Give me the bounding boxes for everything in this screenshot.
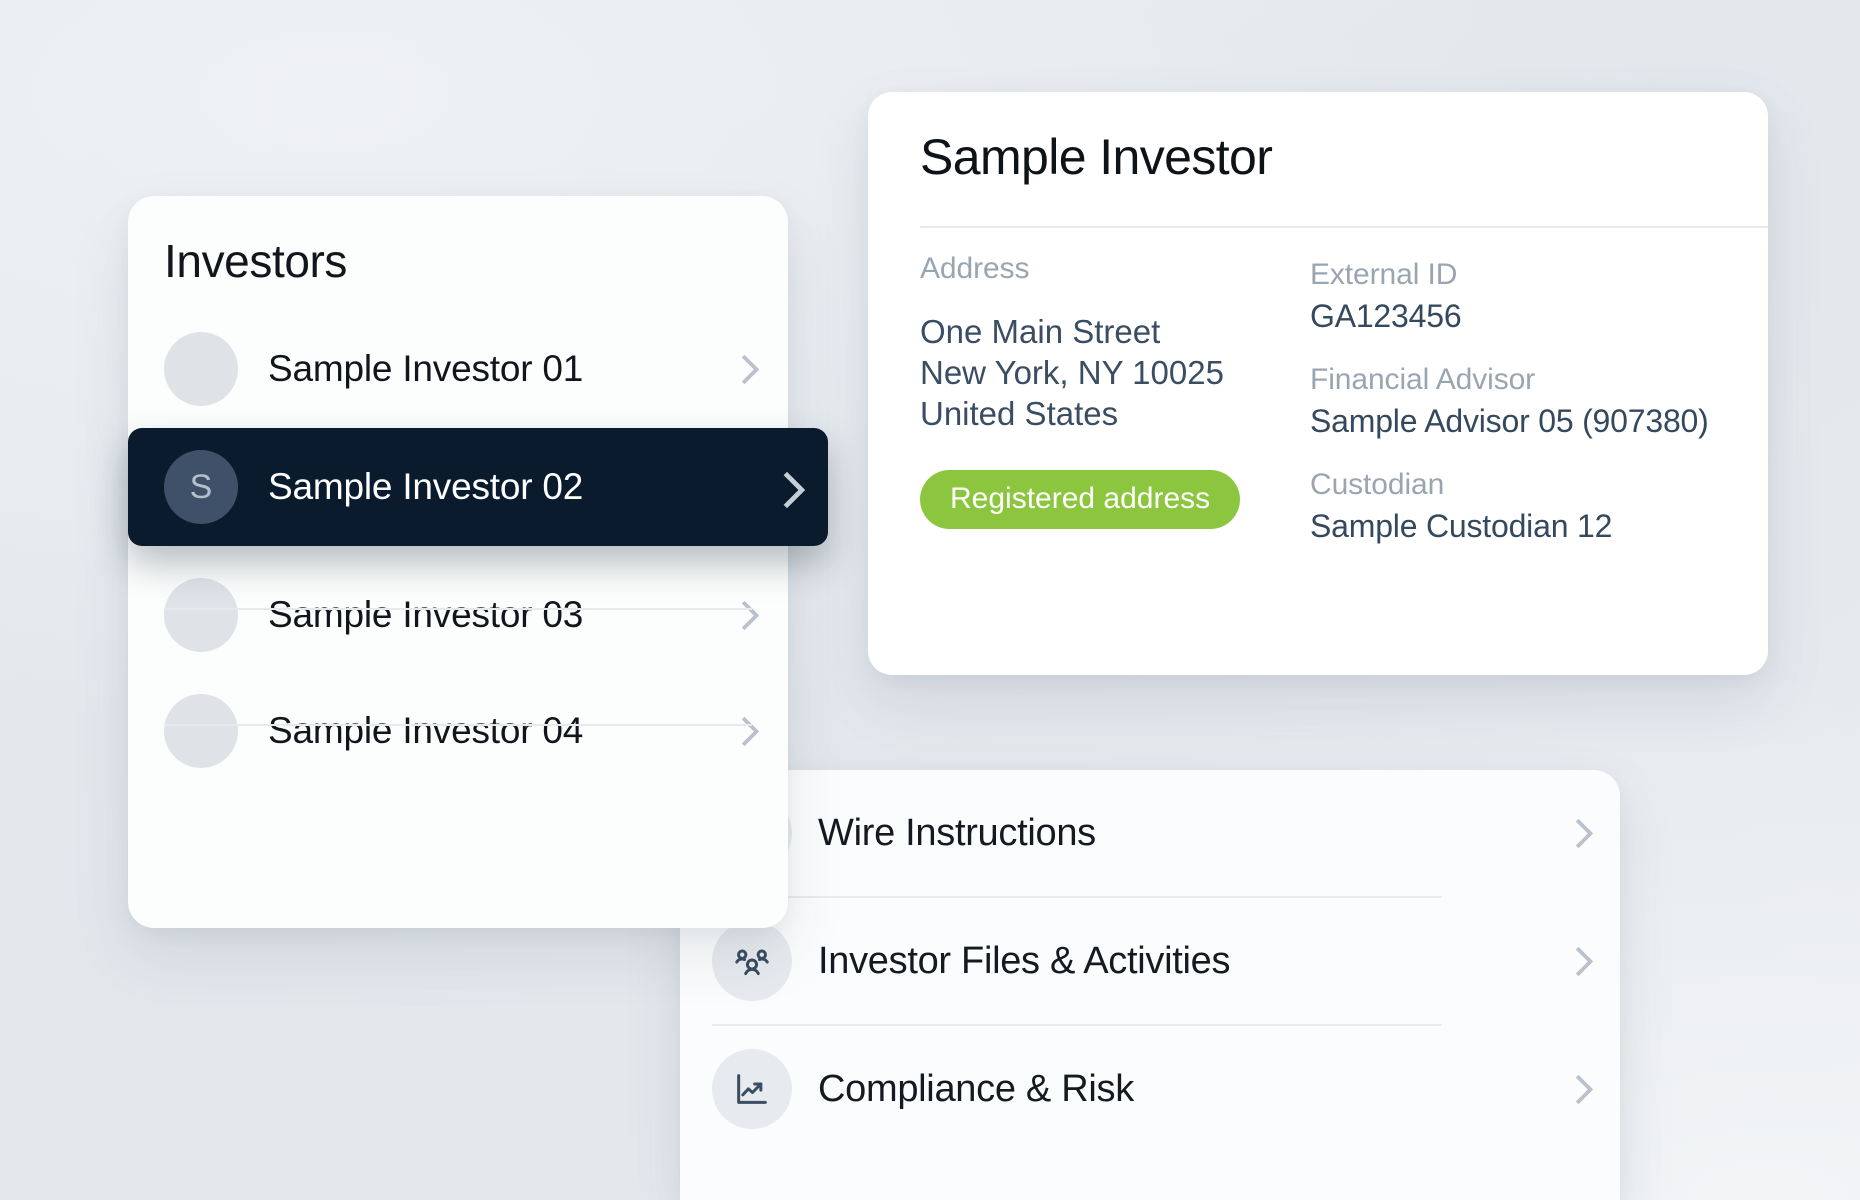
status-badge: Registered address [920, 470, 1240, 529]
field-label: Financial Advisor [1310, 363, 1709, 397]
address-column: Address One Main Street New York, NY 100… [920, 252, 1224, 435]
address-line-3: United States [920, 394, 1224, 435]
investor-name: Sample Investor 04 [268, 710, 732, 752]
address-label: Address [920, 252, 1224, 286]
chevron-right-icon[interactable] [732, 352, 752, 386]
details-column: External ID GA123456 Financial Advisor S… [1310, 258, 1709, 573]
investor-divider [164, 608, 752, 610]
investor-list-item-04[interactable]: Sample Investor 04 [128, 672, 788, 790]
action-row-compliance-risk[interactable]: Compliance & Risk [680, 1026, 1620, 1152]
page-title: Sample Investor [920, 128, 1272, 186]
action-row-wire-instructions[interactable]: Wire Instructions [680, 770, 1620, 896]
field-custodian: Custodian Sample Custodian 12 [1310, 468, 1709, 545]
chart-line-up-icon [712, 1049, 792, 1129]
investor-list-item-03[interactable]: Sample Investor 03 [128, 556, 788, 674]
investor-list-item-01[interactable]: Sample Investor 01 [128, 310, 788, 428]
chevron-right-icon[interactable] [1566, 944, 1586, 978]
address-value: One Main Street New York, NY 10025 Unite… [920, 312, 1224, 435]
action-label: Wire Instructions [818, 812, 1566, 855]
investor-name: Sample Investor 02 [268, 466, 772, 508]
field-label: External ID [1310, 258, 1709, 292]
title-divider [920, 226, 1768, 228]
chevron-right-icon[interactable] [772, 470, 792, 504]
avatar [164, 694, 238, 768]
investor-detail-card: Sample Investor Address One Main Street … [868, 92, 1768, 675]
field-value: Sample Custodian 12 [1310, 508, 1709, 545]
investor-name: Sample Investor 03 [268, 594, 732, 636]
investor-list-item-02[interactable]: S Sample Investor 02 [128, 428, 828, 546]
investor-divider [164, 724, 752, 726]
field-value: GA123456 [1310, 298, 1709, 335]
field-external-id: External ID GA123456 [1310, 258, 1709, 335]
address-line-1: One Main Street [920, 312, 1224, 353]
action-label: Compliance & Risk [818, 1068, 1566, 1111]
app-background: Wire Instructions Investor Files & Activ… [0, 0, 1860, 1200]
action-label: Investor Files & Activities [818, 940, 1566, 983]
investors-title: Investors [164, 234, 347, 288]
chevron-right-icon[interactable] [1566, 1072, 1586, 1106]
actions-card: Wire Instructions Investor Files & Activ… [680, 770, 1620, 1200]
investor-name: Sample Investor 01 [268, 348, 732, 390]
chevron-right-icon[interactable] [1566, 816, 1586, 850]
field-financial-advisor: Financial Advisor Sample Advisor 05 (907… [1310, 363, 1709, 440]
chevron-right-icon[interactable] [732, 598, 752, 632]
action-row-investor-files-activities[interactable]: Investor Files & Activities [680, 898, 1620, 1024]
avatar: S [164, 450, 238, 524]
avatar [164, 332, 238, 406]
field-value: Sample Advisor 05 (907380) [1310, 403, 1709, 440]
address-line-2: New York, NY 10025 [920, 353, 1224, 394]
investors-card: Investors Sample Investor 01 S Sample In… [128, 196, 788, 928]
field-label: Custodian [1310, 468, 1709, 502]
avatar [164, 578, 238, 652]
chevron-right-icon[interactable] [732, 714, 752, 748]
users-group-icon [712, 921, 792, 1001]
